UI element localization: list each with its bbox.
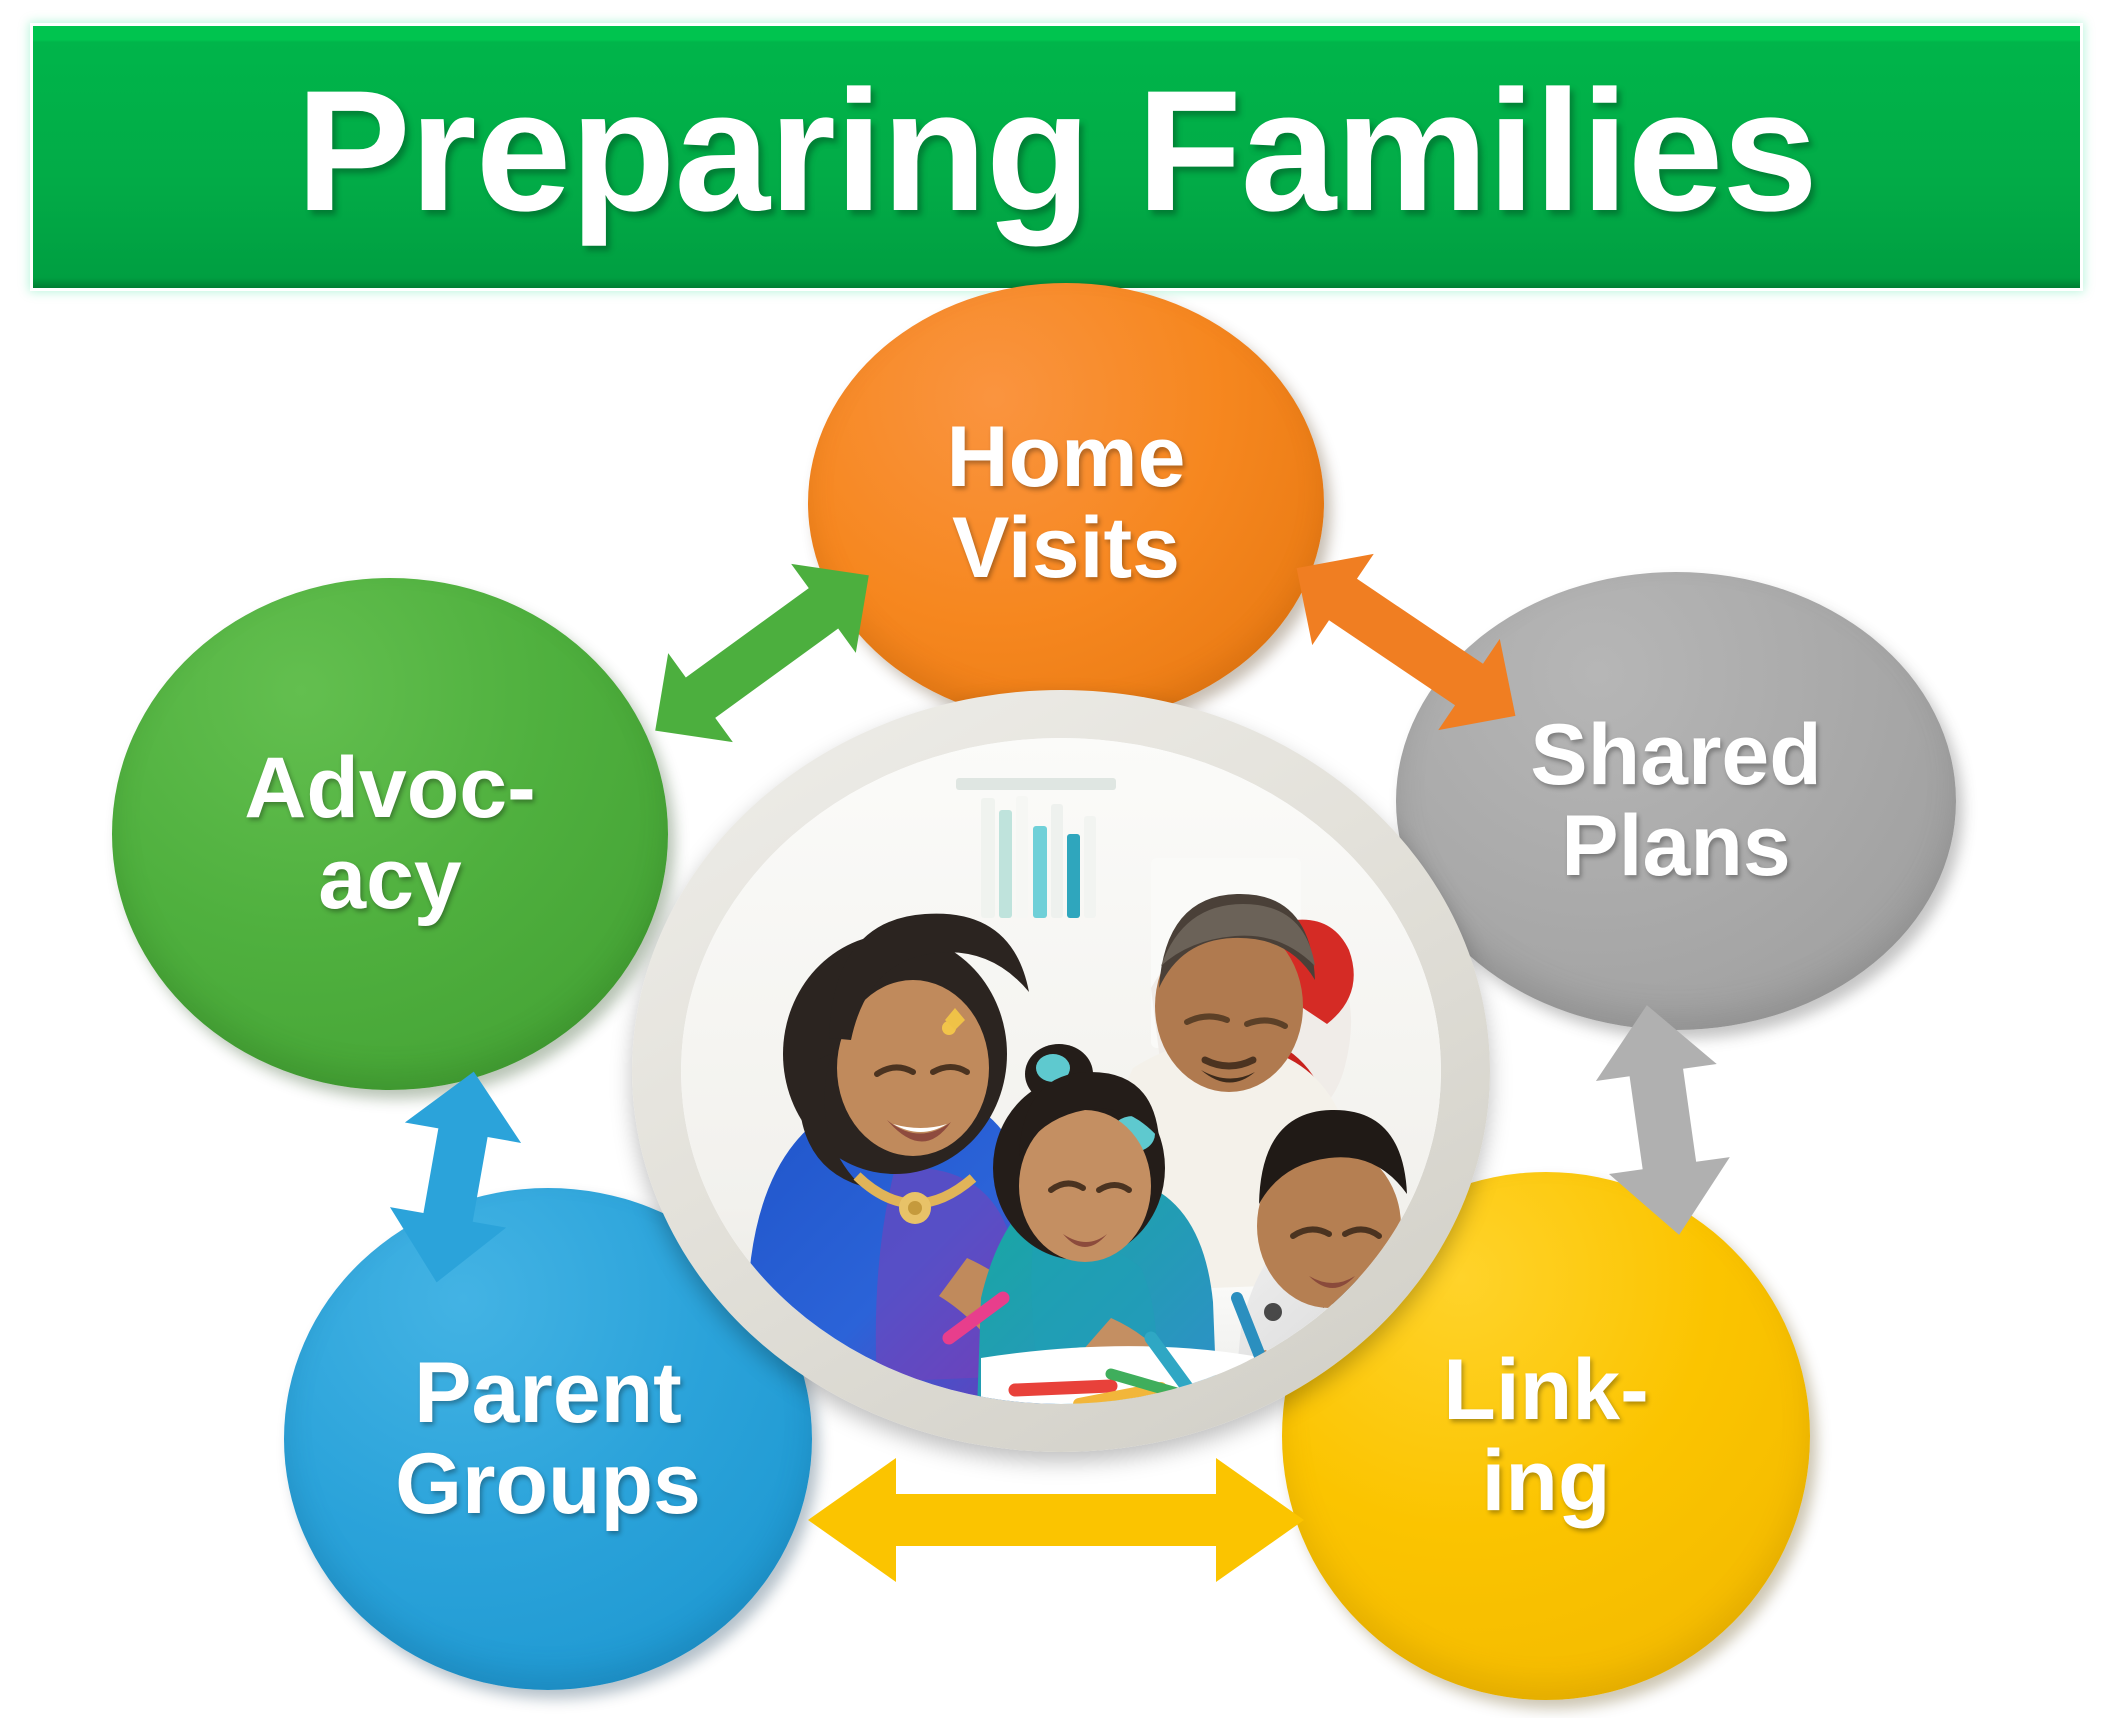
node-shared-plans-label: SharedPlans xyxy=(1524,710,1828,892)
node-advocacy[interactable]: Advoc-acy xyxy=(112,578,668,1090)
node-linking-label: Link-ing xyxy=(1437,1345,1654,1527)
arrow-parent-groups-to-linking-icon xyxy=(800,1452,1312,1588)
center-photo xyxy=(681,738,1441,1404)
arrow-advocacy-to-home-visits-icon xyxy=(612,548,912,758)
node-advocacy-label: Advoc-acy xyxy=(238,743,541,925)
page-title-banner: Preparing Families xyxy=(33,26,2080,288)
family-photo-illustration xyxy=(681,738,1441,1404)
diagram-canvas: Preparing Families xyxy=(0,0,2110,1718)
arrow-linking-to-shared-plans-icon xyxy=(1538,994,1788,1246)
node-parent-groups-label: ParentGroups xyxy=(389,1348,707,1530)
node-home-visits-label: HomeVisits xyxy=(941,412,1192,594)
arrow-home-visits-to-shared-plans-icon xyxy=(1256,532,1556,752)
center-photo-frame xyxy=(632,690,1490,1452)
page-title: Preparing Families xyxy=(296,65,1817,237)
arrow-advocacy-to-parent-groups-icon xyxy=(330,1062,580,1294)
